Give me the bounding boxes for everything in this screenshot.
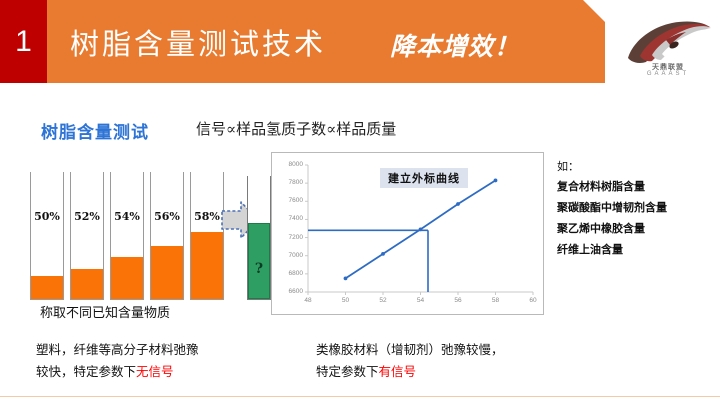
example-item: 聚乙烯中橡胶含量 <box>557 220 717 236</box>
chart-data-point <box>381 252 385 256</box>
chart-x-tick-label: 58 <box>486 297 506 304</box>
chart-x-tick-label: 56 <box>448 297 468 304</box>
chart-data-point <box>456 202 460 206</box>
unknown-beaker-label: ? <box>248 261 270 277</box>
section-heading: 树脂含量测试 <box>41 118 149 143</box>
note-left-highlight: 无信号 <box>136 364 174 379</box>
unknown-sample-beaker: ? <box>247 176 271 300</box>
note-left-line1: 塑料，纤维等高分子材料弛豫 <box>36 339 199 358</box>
beaker-percent-label: 52% <box>71 210 103 223</box>
beaker: 50% <box>30 172 64 300</box>
chart-y-tick-label: 6600 <box>273 288 303 295</box>
chart-y-tick-label: 7000 <box>273 252 303 259</box>
beaker-fill <box>111 257 143 299</box>
note-left-line2-text: 较快，特定参数下 <box>36 364 136 379</box>
brand-logo-en-text: GAAAST <box>628 71 708 77</box>
beaker-percent-label: 54% <box>111 210 143 223</box>
example-item: 复合材料树脂含量 <box>557 178 717 194</box>
chart-data-point <box>344 276 348 280</box>
known-sample-beakers: 50%52%54%56%58% <box>30 172 230 302</box>
examples-intro: 如： <box>557 158 717 174</box>
chart-y-tick-label: 6800 <box>273 270 303 277</box>
chart-y-tick-label: 8000 <box>273 161 303 168</box>
beaker-percent-label: 50% <box>31 210 63 223</box>
note-right-line2: 特定参数下有信号 <box>316 361 416 380</box>
example-item: 纤维上油含量 <box>557 241 717 257</box>
slide-root: 1 树脂含量测试技术 降本增效！ 天鼎联盟 GAAAST 树脂含量测试 信号∝样… <box>0 0 720 405</box>
beaker: 52% <box>70 172 104 300</box>
chart-data-point <box>494 179 498 183</box>
chart-data-point <box>419 228 423 232</box>
note-right-highlight: 有信号 <box>379 364 417 379</box>
examples-list: 如： 复合材料树脂含量 聚碳酸酯中增韧剂含量 聚乙烯中橡胶含量 纤维上油含量 <box>557 158 717 262</box>
beaker-fill <box>71 269 103 299</box>
chart-y-tick-label: 7600 <box>273 197 303 204</box>
chart-title: 建立外标曲线 <box>380 168 468 188</box>
chart-y-tick-label: 7400 <box>273 215 303 222</box>
chart-x-tick-label: 50 <box>336 297 356 304</box>
beaker-fill <box>151 246 183 299</box>
chart-x-tick-label: 60 <box>523 297 543 304</box>
chart-y-tick-label: 7800 <box>273 179 303 186</box>
note-right-line1: 类橡胶材料（增韧剂）弛豫较慢， <box>316 339 504 358</box>
note-right-line2-text: 特定参数下 <box>316 364 379 379</box>
note-left-line2: 较快，特定参数下无信号 <box>36 361 174 380</box>
chart-x-tick-label: 54 <box>411 297 431 304</box>
beaker: 54% <box>110 172 144 300</box>
page-title: 树脂含量测试技术 <box>70 21 326 63</box>
chart-x-tick-label: 48 <box>298 297 318 304</box>
proportionality-formula: 信号∝样品氢质子数∝样品质量 <box>196 118 396 139</box>
header-section-number: 1 <box>0 0 47 83</box>
example-item: 聚碳酸酯中增韧剂含量 <box>557 199 717 215</box>
beaker: 56% <box>150 172 184 300</box>
chart-y-tick-label: 7200 <box>273 234 303 241</box>
chart-x-tick-label: 52 <box>373 297 393 304</box>
beakers-caption: 称取不同已知含量物质 <box>40 302 170 321</box>
beaker-percent-label: 56% <box>151 210 183 223</box>
footer-divider <box>0 396 720 397</box>
beaker-fill <box>31 276 63 299</box>
calibration-curve-chart: 6600680070007200740076007800800048505254… <box>271 152 544 315</box>
header-tagline: 降本增效！ <box>390 27 520 63</box>
